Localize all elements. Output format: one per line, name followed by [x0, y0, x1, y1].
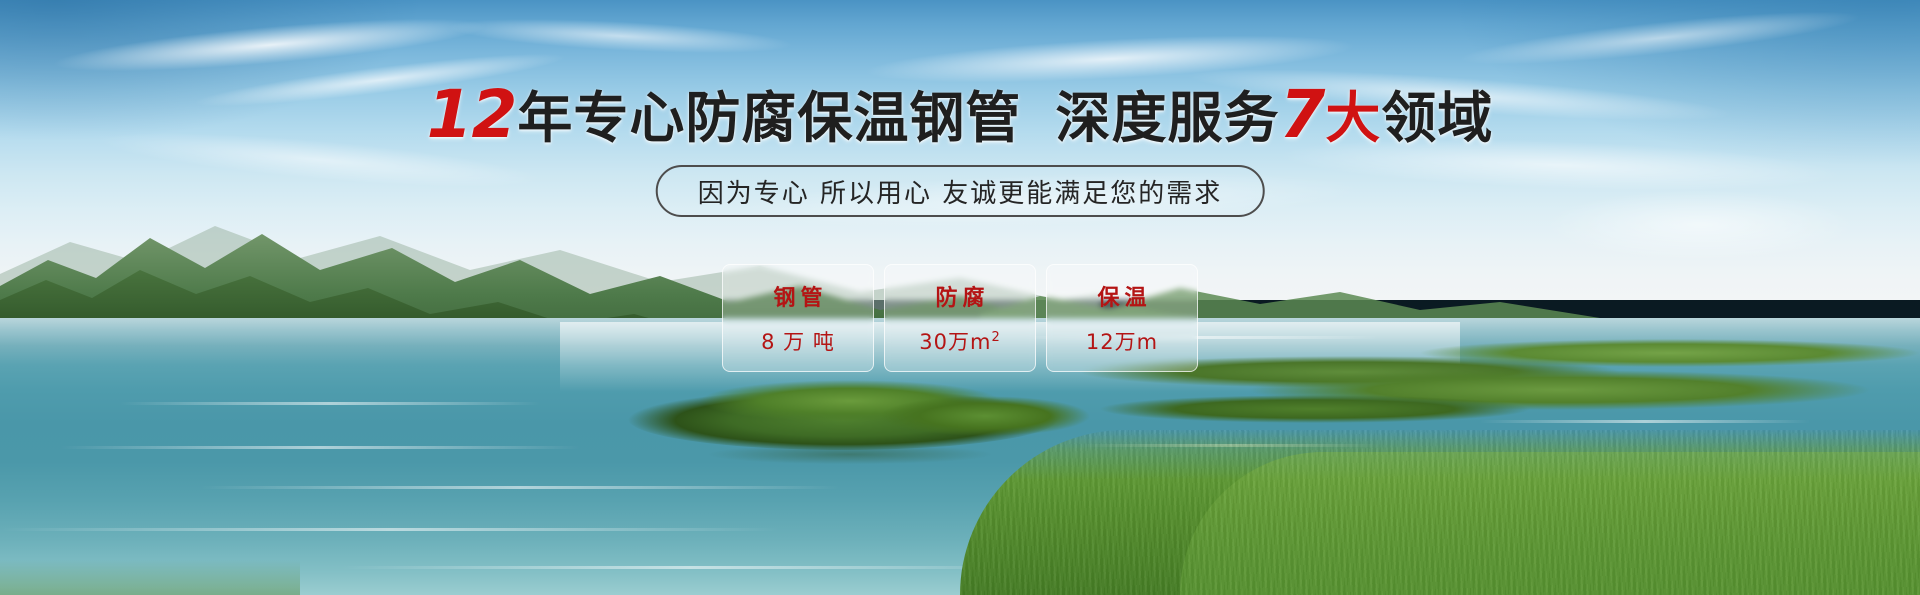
- headline-fields-number: 7: [1279, 76, 1324, 153]
- stat-card-value-main: 30万m: [919, 330, 991, 354]
- banner-content: 12年专心防腐保温钢管深度服务7大领域 因为专心 所以用心 友诚更能满足您的需求…: [0, 0, 1920, 595]
- stat-card-label: 防腐: [930, 280, 989, 312]
- stat-card-value: 30万m2: [919, 326, 1000, 356]
- stat-card-value: 12万m: [1086, 326, 1158, 356]
- stat-card-label: 钢管: [768, 280, 827, 312]
- subtitle-text: 因为专心 所以用心 友诚更能满足您的需求: [698, 173, 1223, 210]
- headline-part-2: 深度服务: [1055, 86, 1279, 150]
- stat-card-steel-pipe: 钢管 8 万 吨: [722, 264, 874, 372]
- stat-card-anticorrosion: 防腐 30万m2: [884, 264, 1036, 372]
- stat-card-label: 保温: [1092, 280, 1151, 312]
- promo-banner: 12年专心防腐保温钢管深度服务7大领域 因为专心 所以用心 友诚更能满足您的需求…: [0, 0, 1920, 595]
- headline: 12年专心防腐保温钢管深度服务7大领域: [0, 86, 1920, 147]
- stat-card-value: 8 万 吨: [761, 326, 835, 356]
- subtitle-pill: 因为专心 所以用心 友诚更能满足您的需求: [656, 165, 1265, 217]
- headline-fields-unit: 大: [1325, 86, 1381, 150]
- stat-card-value-superscript: 2: [991, 330, 1000, 345]
- headline-years-number: 12: [427, 76, 517, 153]
- stat-card-insulation: 保温 12万m: [1046, 264, 1198, 372]
- stat-cards: 钢管 8 万 吨 防腐 30万m2 保温 12万m: [722, 264, 1198, 372]
- headline-part-3: 领域: [1381, 86, 1493, 150]
- headline-part-1: 年专心防腐保温钢管: [517, 86, 1021, 150]
